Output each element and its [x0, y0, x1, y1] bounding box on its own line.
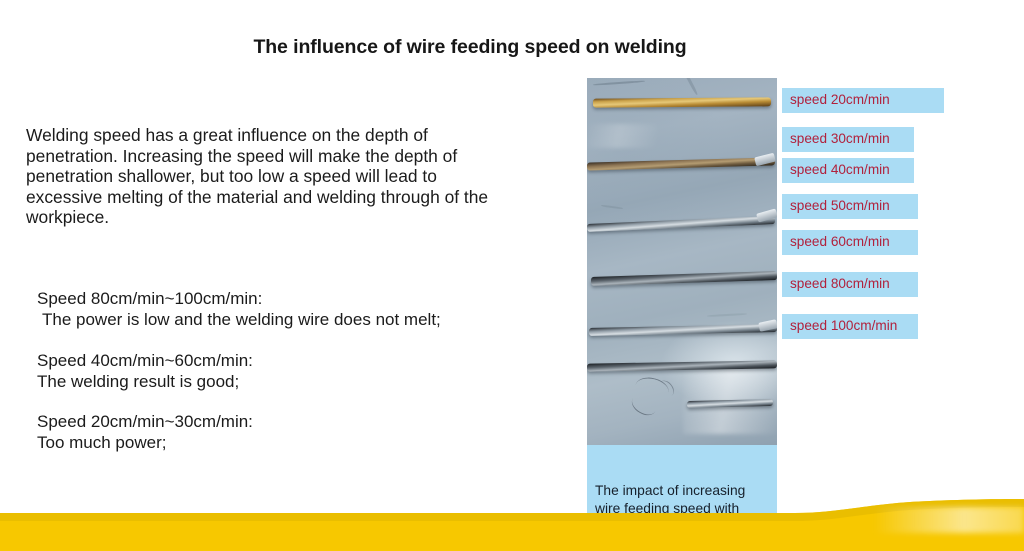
banner-gloss: [874, 507, 1024, 533]
speed-note-item: Speed 20cm/min~30cm/min: Too much power;: [37, 411, 517, 454]
speed-label-100: speed 100cm/min: [782, 314, 918, 339]
bottom-banner: [0, 499, 1024, 551]
speed-note-detail: Too much power;: [37, 432, 517, 453]
speed-note-heading: Speed 80cm/min~100cm/min:: [37, 288, 517, 309]
page-title: The influence of wire feeding speed on w…: [0, 36, 940, 59]
speed-note-heading: Speed 40cm/min~60cm/min:: [37, 350, 517, 371]
speed-label-20: speed 20cm/min: [782, 88, 944, 113]
speed-label-80: speed 80cm/min: [782, 272, 918, 297]
weld-bead-20: [593, 97, 771, 107]
presentation-slide: The influence of wire feeding speed on w…: [0, 0, 1024, 551]
speed-note-detail: The welding result is good;: [37, 371, 517, 392]
intro-paragraph: Welding speed has a great influence on t…: [26, 125, 516, 228]
speed-notes-list: Speed 80cm/min~100cm/min: The power is l…: [37, 288, 517, 454]
speed-label-30: speed 30cm/min: [782, 127, 914, 152]
speed-note-item: Speed 80cm/min~100cm/min: The power is l…: [37, 288, 517, 331]
photo-caption: The impact of increasing wire feeding sp…: [587, 445, 777, 551]
speed-label-60: speed 60cm/min: [782, 230, 918, 255]
plate-sheen: [587, 124, 657, 148]
speed-label-50: speed 50cm/min: [782, 194, 918, 219]
speed-note-heading: Speed 20cm/min~30cm/min:: [37, 411, 517, 432]
speed-note-item: Speed 40cm/min~60cm/min: The welding res…: [37, 350, 517, 393]
speed-label-40: speed 40cm/min: [782, 158, 914, 183]
weld-sample-photo: [587, 78, 777, 445]
speed-note-detail: The power is low and the welding wire do…: [37, 309, 517, 330]
